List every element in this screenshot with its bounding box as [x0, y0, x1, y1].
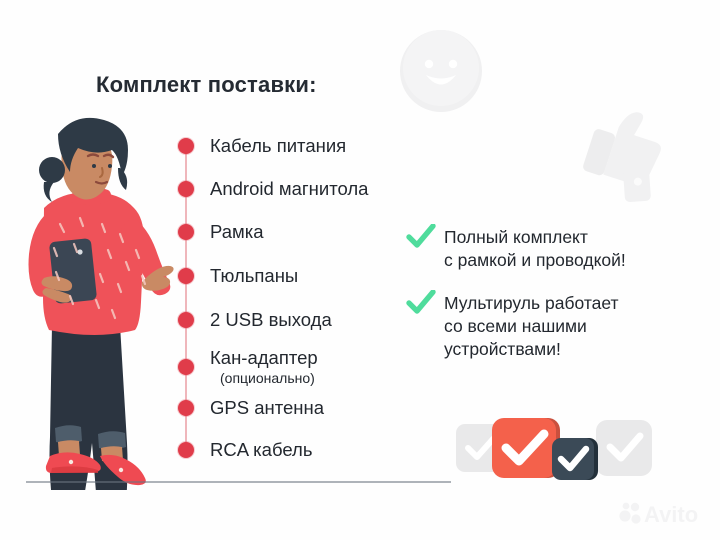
timeline-dot — [178, 181, 194, 197]
list-item-label: RCA кабель — [210, 439, 312, 460]
list-item-label: Кабель питания — [210, 135, 346, 156]
package-contents-timeline: Кабель питания Android магнитола Рамка Т… — [176, 138, 426, 458]
check-icon — [406, 224, 436, 250]
list-item-label: Android магнитола — [210, 178, 368, 199]
checkbox-tiles-decoration — [456, 414, 656, 486]
benefit-item: Мультируль работает со всеми нашими устр… — [406, 292, 706, 361]
timeline-dot — [178, 268, 194, 284]
avito-watermark: Avito — [618, 500, 710, 526]
thumbs-up-icon — [576, 96, 686, 206]
list-item-sublabel: (опционально) — [220, 370, 315, 386]
checkbox-tile-navy — [552, 438, 598, 480]
benefit-line-3: устройствами! — [444, 338, 706, 361]
timeline-dot — [178, 359, 194, 375]
benefits-block: Полный комплект с рамкой и проводкой! Му… — [406, 226, 706, 375]
page-title: Комплект поставки: — [96, 72, 317, 98]
list-item-label: 2 USB выхода — [210, 309, 332, 330]
list-item-label: Рамка — [210, 221, 264, 242]
timeline-dot — [178, 442, 194, 458]
benefit-line-1: Мультируль работает — [444, 292, 706, 315]
woman-with-tablet-illustration — [8, 112, 180, 490]
watermark-text: Avito — [644, 502, 698, 526]
benefit-line-2: со всеми нашими — [444, 315, 706, 338]
benefit-item: Полный комплект с рамкой и проводкой! — [406, 226, 706, 272]
timeline-dot — [178, 224, 194, 240]
poster-canvas: Комплект поставки: — [0, 0, 720, 540]
timeline-dot — [178, 400, 194, 416]
list-item-label: Кан-адаптер — [210, 347, 318, 368]
smiley-face-icon — [398, 28, 484, 114]
list-item-label: GPS антенна — [210, 397, 324, 418]
checkbox-tile-coral — [492, 418, 560, 478]
timeline-dot — [178, 312, 194, 328]
benefit-line-2: с рамкой и проводкой! — [444, 249, 706, 272]
check-icon — [406, 290, 436, 316]
checkbox-tile-gray-right — [596, 420, 652, 476]
timeline-dot — [178, 138, 194, 154]
ground-line — [26, 481, 451, 483]
list-item-label: Тюльпаны — [210, 265, 298, 286]
benefit-line-1: Полный комплект — [444, 226, 706, 249]
